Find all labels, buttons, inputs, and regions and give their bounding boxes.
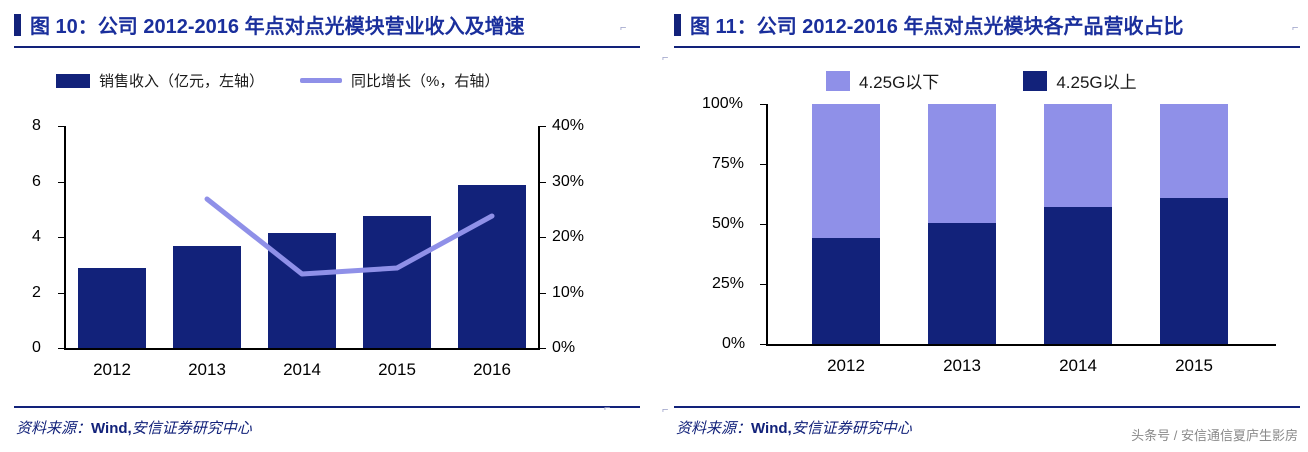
x-label-2014: 2014 (1038, 356, 1118, 376)
y-tick (760, 104, 766, 105)
x-label-2013: 2013 (167, 360, 247, 380)
y-tick (760, 284, 766, 285)
watermark: 头条号 / 安信通信夏庐生影房 (1131, 425, 1298, 444)
y-tick (760, 164, 766, 165)
x-label-2012: 2012 (806, 356, 886, 376)
y-tick-label: 75% (712, 155, 744, 173)
bar-2014-above (1044, 207, 1112, 344)
figure-11-plot: 100% 75% 50% 25% 0% 2012 2013 2014 2015 (660, 0, 1308, 452)
y-tick-label: 0% (722, 335, 745, 353)
x-label-2013: 2013 (922, 356, 1002, 376)
bar-2013-above (928, 223, 996, 344)
page-root: 图 10：公司 2012-2016 年点对点光模块营业收入及增速 资料来源：Wi… (0, 0, 1308, 452)
figure-10-panel: 图 10：公司 2012-2016 年点对点光模块营业收入及增速 资料来源：Wi… (0, 0, 648, 452)
y-tick-label: 100% (702, 95, 743, 113)
x-label-2015: 2015 (357, 360, 437, 380)
y-tick (760, 224, 766, 225)
x-label-2012: 2012 (72, 360, 152, 380)
editor-mark: ⌐ (620, 22, 626, 34)
editor-mark: ⌐ (604, 402, 610, 414)
editor-mark: ⌐ (1292, 22, 1298, 34)
y-tick-label: 50% (712, 215, 744, 233)
bar-2012-above (812, 238, 880, 344)
bar-2013-below (928, 104, 996, 223)
bar-2012-below (812, 104, 880, 238)
bar-2015-above (1160, 198, 1228, 344)
x-label-2015: 2015 (1154, 356, 1234, 376)
y-tick-label: 25% (712, 275, 744, 293)
growth-line (0, 0, 648, 452)
bar-2015-below (1160, 104, 1228, 198)
figure-11-panel: 图 11：公司 2012-2016 年点对点光模块各产品营收占比 资料来源：Wi… (660, 0, 1308, 452)
x-axis (766, 344, 1276, 346)
y-tick (760, 344, 766, 345)
figure-10-plot: 8 6 4 2 0 40% 30% 20% 10% 0% (0, 0, 648, 452)
y-axis (766, 104, 768, 344)
editor-mark: ⌐ (662, 52, 668, 64)
bar-2014-below (1044, 104, 1112, 207)
editor-mark: ⌐ (662, 404, 668, 416)
x-label-2016: 2016 (452, 360, 532, 380)
x-label-2014: 2014 (262, 360, 342, 380)
